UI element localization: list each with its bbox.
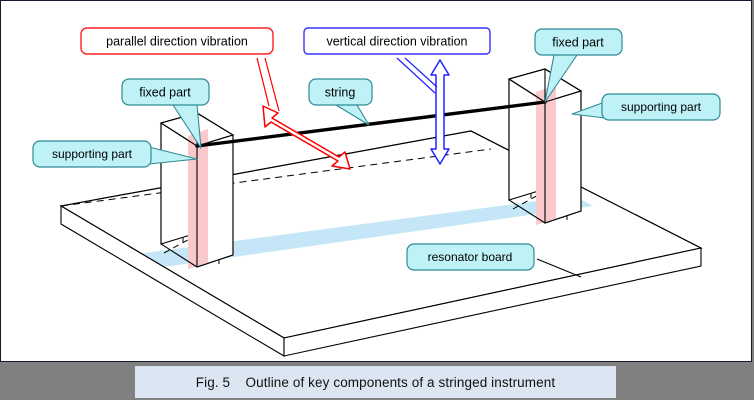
callout-vertical-direction-vibration[interactable]: vertical direction vibration: [304, 28, 490, 54]
callout-supporting-part-left-label: supporting part: [52, 147, 133, 161]
figure-caption-text: Fig. 5 Outline of key components of a st…: [196, 375, 555, 390]
callout-resonator-board-label: resonator board: [428, 250, 513, 264]
parallel-leader-line-2: [265, 58, 279, 111]
callout-vertical-direction-vibration-label: vertical direction vibration: [326, 34, 467, 48]
stringed-instrument-diagram: parallel direction vibration vertical di…: [1, 1, 752, 362]
callout-parallel-direction-vibration[interactable]: parallel direction vibration: [81, 28, 273, 54]
resonator-board-group: [61, 131, 701, 356]
callout-parallel-direction-vibration-label: parallel direction vibration: [106, 34, 248, 48]
fixed-part-band-left: [188, 129, 208, 269]
figure-caption-band: Fig. 5 Outline of key components of a st…: [135, 366, 616, 398]
fixed-part-band-right: [536, 85, 556, 225]
callout-supporting-part-right[interactable]: supporting part: [572, 94, 720, 120]
callout-fixed-part-left-label: fixed part: [139, 85, 191, 99]
string-line: [197, 102, 545, 146]
callout-string-label: string: [325, 85, 356, 99]
figure-panel: parallel direction vibration vertical di…: [0, 0, 752, 362]
callout-string[interactable]: string: [309, 79, 372, 125]
callout-fixed-part-right-label: fixed part: [552, 35, 604, 49]
vertical-direction-arrow: [431, 60, 449, 164]
callout-supporting-part-right-label: supporting part: [621, 100, 702, 114]
callout-string-tail: [336, 105, 369, 125]
vertical-leader-line-1: [397, 58, 435, 93]
figure-root: parallel direction vibration vertical di…: [0, 0, 754, 400]
callout-resonator-board[interactable]: resonator board: [407, 244, 534, 270]
